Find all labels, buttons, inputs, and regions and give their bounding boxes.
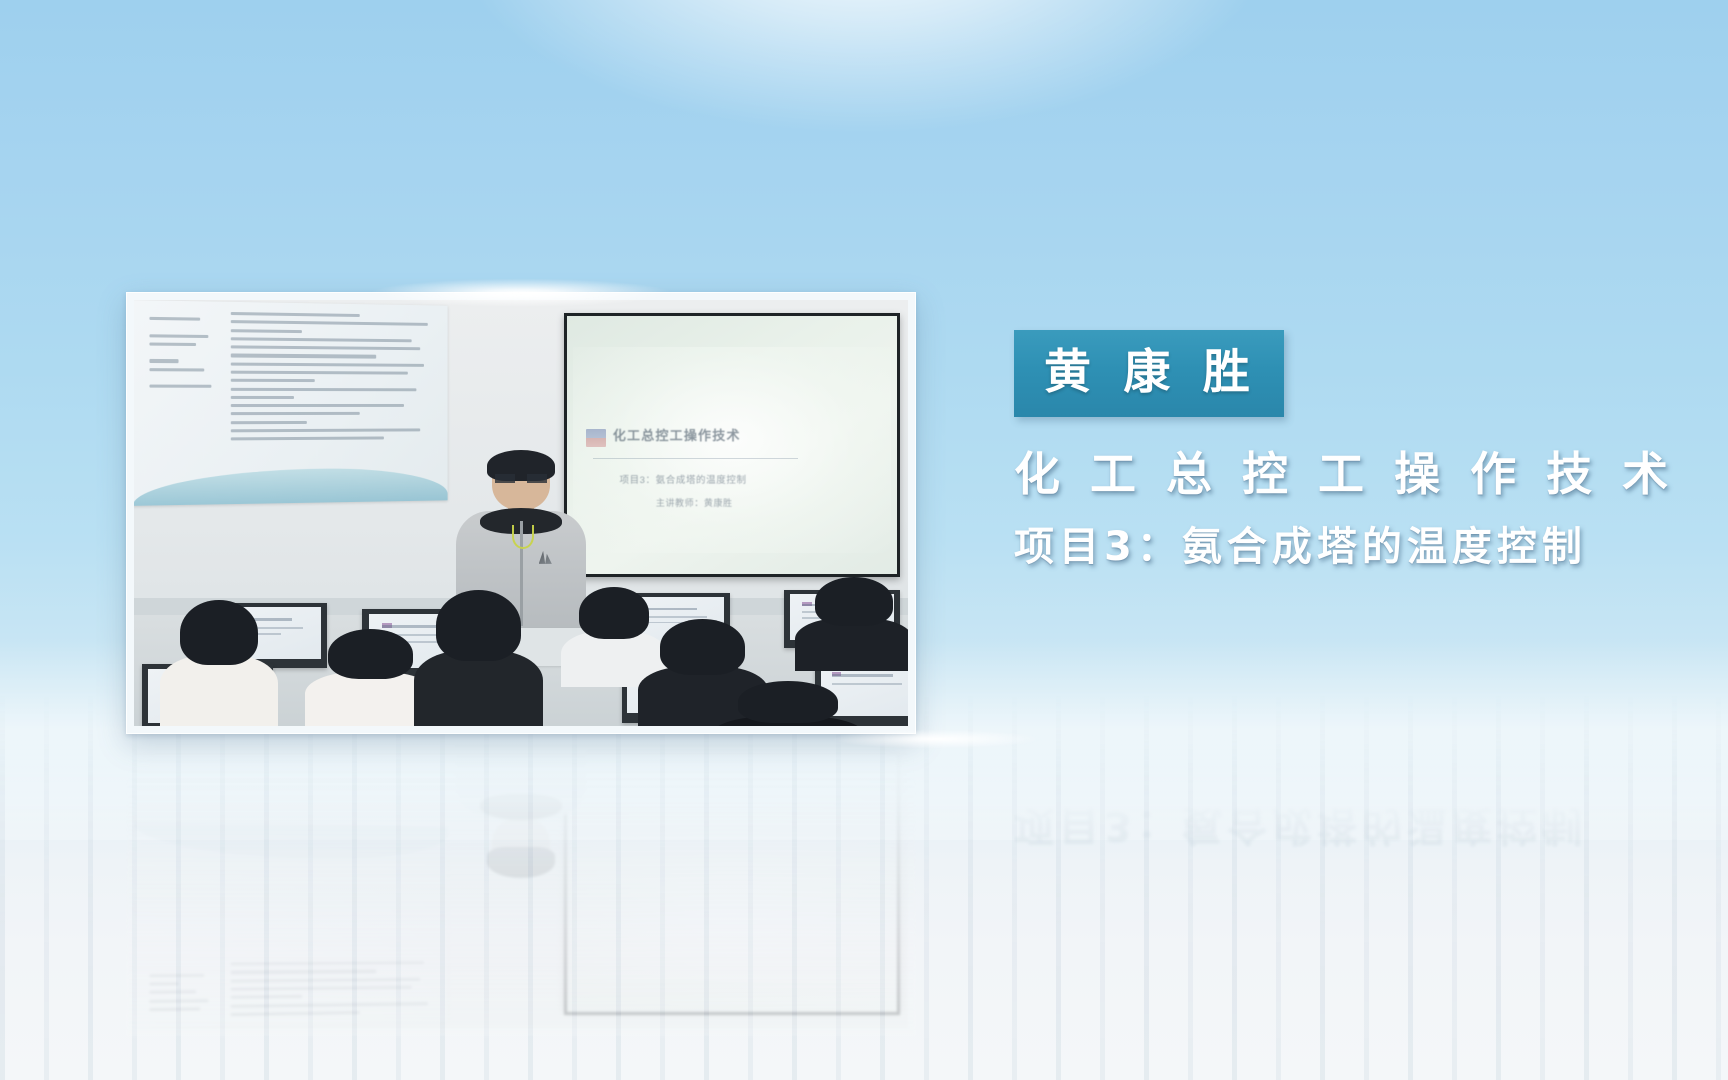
student-hair	[436, 590, 521, 661]
photo-reflection	[126, 736, 916, 1036]
poster-left-column	[149, 317, 221, 481]
project-subtitle-reflection: 项目3：氨合成塔的温度控制	[1014, 800, 1714, 858]
slide-instructor: 主讲教师：黄康胜	[656, 496, 733, 509]
photo-frame: 化工总控工操作技术 项目3：氨合成塔的温度控制 主讲教师：黄康胜	[126, 292, 916, 734]
student-figure	[436, 590, 521, 726]
wall-poster	[134, 300, 448, 506]
project-subtitle: 项目3：氨合成塔的温度控制	[1014, 523, 1674, 571]
student-hair	[815, 577, 892, 626]
title-text-reflection: 项目3：氨合成塔的温度控制	[1014, 800, 1714, 880]
title-text-block: 黄 康 胜 化 工 总 控 工 操 作 技 术 项目3：氨合成塔的温度控制	[1014, 330, 1674, 571]
poster-body-text	[231, 312, 436, 486]
student-hair	[328, 629, 413, 680]
student-figure	[180, 600, 257, 726]
slide-divider	[593, 458, 798, 459]
student-hair	[180, 600, 257, 666]
slide-logo-icon	[586, 429, 606, 447]
projector-screen: 化工总控工操作技术 项目3：氨合成塔的温度控制 主讲教师：黄康胜	[564, 313, 901, 577]
course-title: 化 工 总 控 工 操 作 技 术	[1014, 447, 1674, 501]
floor-dot-texture	[0, 690, 1728, 1080]
slide-project: 项目3：氨合成塔的温度控制	[619, 472, 746, 486]
photo-inner: 化工总控工操作技术 项目3：氨合成塔的温度控制 主讲教师：黄康胜	[134, 300, 908, 726]
slide-title: 化工总控工操作技术	[613, 425, 741, 444]
student-body	[160, 655, 278, 726]
student-hair	[579, 587, 649, 639]
classroom-scene: 化工总控工操作技术 项目3：氨合成塔的温度控制 主讲教师：黄康胜	[134, 300, 908, 726]
projector-screen-surface: 化工总控工操作技术 项目3：氨合成塔的温度控制 主讲教师：黄康胜	[567, 316, 898, 574]
teacher-drawstring	[512, 525, 534, 549]
student-figure	[328, 629, 413, 726]
student-hair	[660, 619, 745, 675]
student-desk-row	[134, 564, 908, 726]
student-figure	[738, 681, 839, 726]
presenter-name-badge: 黄 康 胜	[1014, 330, 1284, 417]
classroom-photo: 化工总控工操作技术 项目3：氨合成塔的温度控制 主讲教师：黄康胜	[126, 292, 916, 734]
teacher-glasses-icon	[495, 474, 548, 483]
student-figure	[579, 587, 649, 687]
student-figure	[815, 577, 892, 671]
projector-light	[573, 347, 890, 553]
student-body	[795, 618, 908, 671]
student-hair	[738, 681, 839, 723]
student-body	[414, 650, 543, 726]
slide-background: 化工总控工操作技术 项目3：氨合成塔的温度控制 主讲教师：黄康胜	[0, 0, 1728, 1080]
student-figure	[660, 619, 745, 726]
floor-dot-texture-offset	[0, 690, 1728, 1080]
